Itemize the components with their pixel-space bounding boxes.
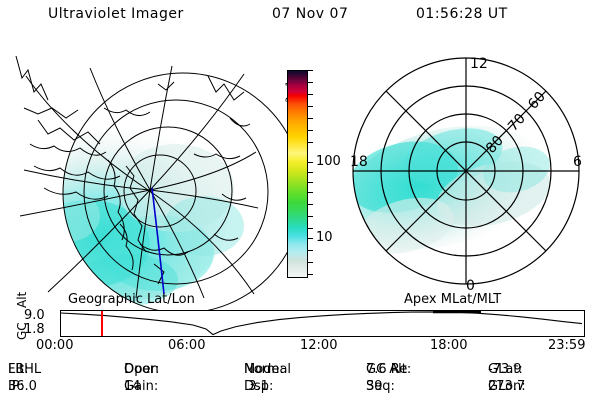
mlt-spokes (353, 58, 579, 284)
colorbar-minor-tick (307, 182, 313, 183)
observation-time: 01:56:28 UT (416, 6, 508, 22)
colorbar-minor-tick (307, 250, 313, 251)
mlt-label-12: 12 (470, 56, 488, 72)
colorbar-minor-tick (307, 228, 313, 229)
colorbar-minor-tick (307, 94, 313, 95)
mlt-dial-svg: 12 18 6 0 60 70 80 (340, 46, 592, 296)
right-panel-title: Apex MLat/MLT (404, 292, 501, 307)
colorbar-minor-tick (307, 130, 313, 131)
colorbar-legend[interactable]: photon cm-2s-1 100 10 (262, 58, 354, 298)
colorbar-major-tick-10 (307, 238, 313, 239)
colorbar-minor-tick (307, 142, 313, 143)
observation-date: 07 Nov 07 (272, 6, 348, 22)
status-dsp: Dsp: 3.1 (244, 379, 248, 394)
current-time-cursor[interactable] (101, 311, 103, 336)
colorbar-minor-tick (307, 274, 313, 275)
colorbar-minor-tick (307, 106, 313, 107)
colorbar-tick-label-100: 100 (316, 154, 341, 169)
colorbar-minor-tick (307, 204, 313, 205)
orbit-xtick-2359: 23:59 (548, 338, 585, 353)
colorbar-gradient (287, 70, 308, 278)
colorbar-minor-tick (307, 262, 313, 263)
magnetic-local-time-panel[interactable]: 12 18 6 0 60 70 80 (340, 46, 592, 296)
geographic-projection-panel[interactable] (8, 48, 258, 293)
colorbar-tick-label-10: 10 (316, 230, 333, 245)
colorbar-minor-tick (307, 82, 313, 83)
colorbar-major-tick-100 (307, 162, 313, 163)
colorbar-minor-tick (307, 216, 313, 217)
orbit-y-axis-label: Alt GC (2, 306, 18, 340)
aurora-emission-mlt (330, 105, 564, 269)
orbit-xtick-0000: 00:00 (36, 338, 73, 353)
orbit-xtick-0600: 06:00 (168, 338, 205, 353)
status-footer: Flt: LBHL Door: Open Mode: Normal GC Alt… (0, 362, 600, 400)
left-panel-title: Geographic Lat/Lon (68, 292, 195, 307)
orbit-xtick-1200: 12:00 (300, 338, 337, 353)
orbit-altitude-curve-svg (61, 311, 584, 336)
colorbar-minor-tick (307, 70, 313, 71)
geographic-map-svg (8, 48, 258, 293)
orbit-altitude-strip[interactable]: Geographic Lat/Lon Apex MLat/MLT GC Alt … (0, 292, 600, 354)
colorbar-minor-tick (307, 192, 313, 193)
colorbar-minor-tick (307, 172, 313, 173)
orbit-xtick-1800: 18:00 (430, 338, 467, 353)
colorbar-minor-tick (307, 118, 313, 119)
orbit-plot-area[interactable] (60, 310, 585, 337)
mlt-label-6: 6 (573, 154, 582, 170)
header-bar: Ultraviolet Imager 07 Nov 07 01:56:28 UT (0, 6, 600, 28)
instrument-title: Ultraviolet Imager (48, 6, 184, 22)
